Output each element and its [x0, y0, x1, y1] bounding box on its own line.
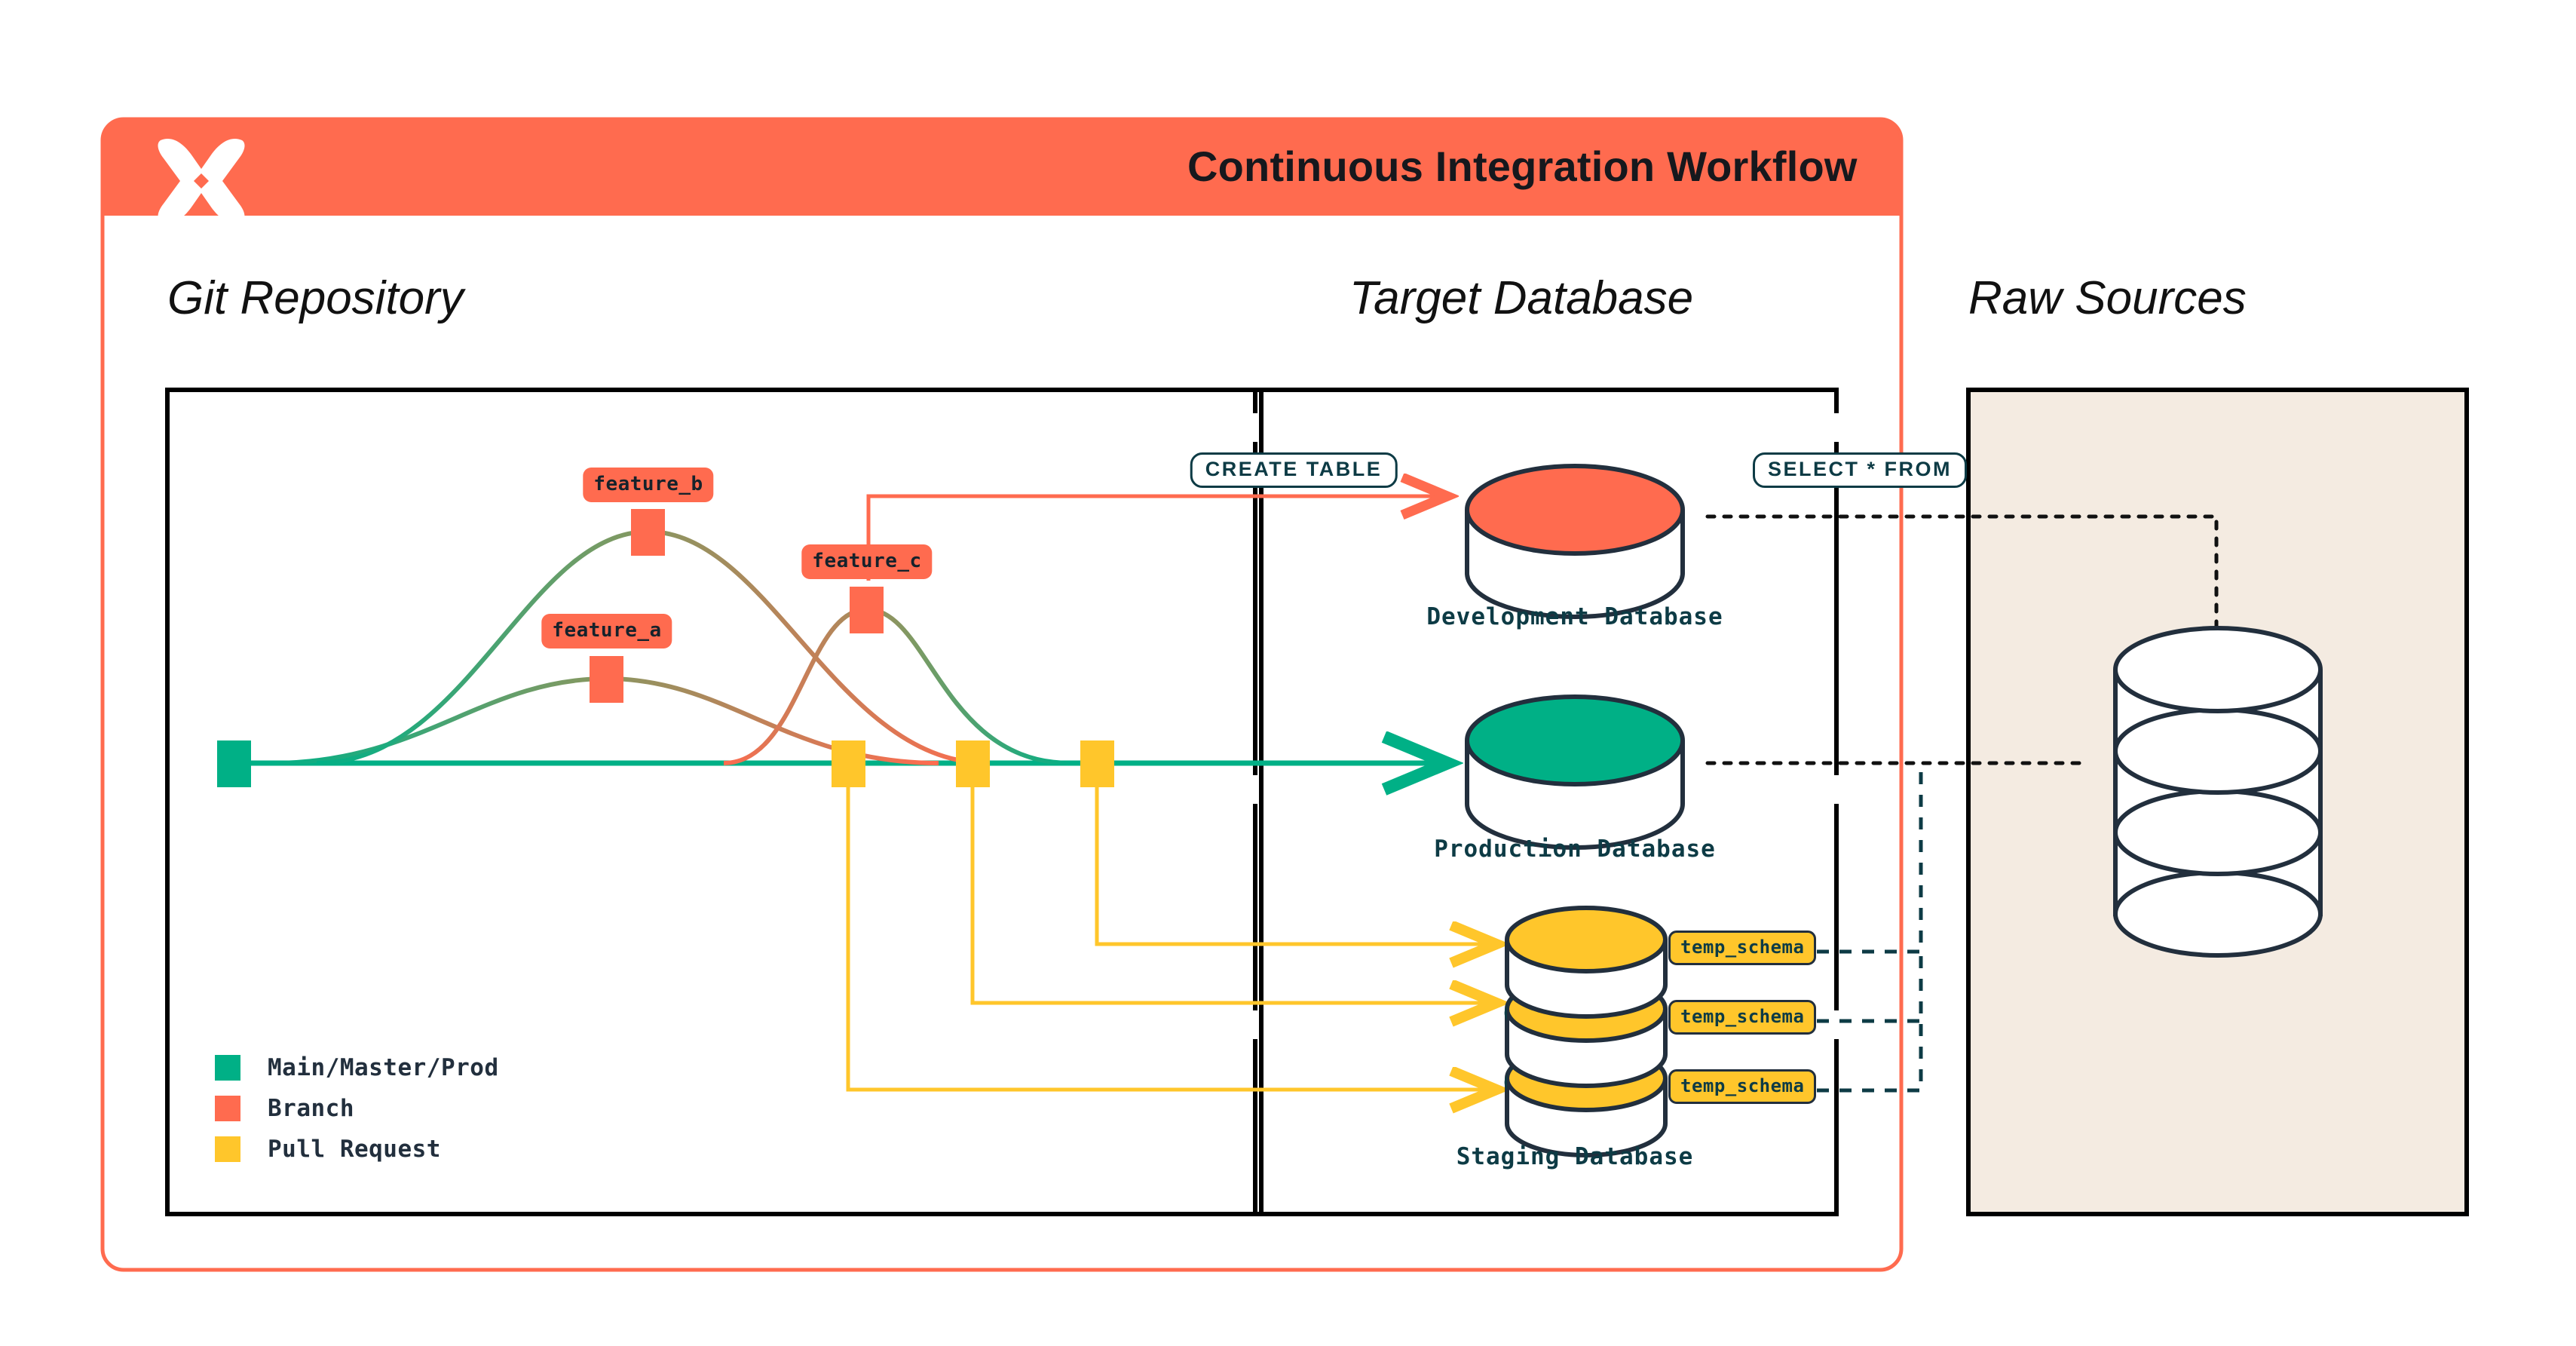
- production-database-cylinder: [1467, 697, 1683, 848]
- db-label-staging: Staging Database: [1456, 1143, 1694, 1170]
- create-table-arrow: [868, 496, 1447, 581]
- legend-label-main: Main/Master/Prod: [268, 1054, 499, 1081]
- section-title-target: Target Database: [1349, 271, 1693, 325]
- branch-chip-feature-a[interactable]: feature_a: [541, 614, 672, 648]
- commit-node-feature-b: [631, 509, 665, 556]
- pull-request-node-2: [956, 740, 990, 787]
- pr-to-staging-arrow-2: [973, 787, 1496, 1003]
- commit-node-feature-c: [850, 587, 884, 633]
- pull-request-node-1: [832, 740, 865, 787]
- legend-item-branch: Branch: [215, 1095, 354, 1122]
- legend-item-pull-request: Pull Request: [215, 1136, 441, 1163]
- pull-request-node-3: [1080, 740, 1114, 787]
- db-label-development: Development Database: [1426, 603, 1723, 630]
- schema-chip-temp-3[interactable]: temp_schema: [1668, 1069, 1816, 1104]
- raw-sources-cylinder: [2115, 628, 2320, 955]
- pr-to-staging-arrow-1: [1097, 787, 1496, 944]
- legend-label-branch: Branch: [268, 1095, 354, 1122]
- pr-to-staging-arrow-3: [848, 787, 1496, 1090]
- commit-node-feature-a: [590, 656, 623, 703]
- sql-chip-select-from[interactable]: SELECT * FROM: [1753, 452, 1967, 488]
- diagram-canvas: Continuous Integration Workflow Git Repo…: [0, 0, 2576, 1346]
- window-title: Continuous Integration Workflow: [1187, 142, 1858, 191]
- sql-chip-create-table[interactable]: CREATE TABLE: [1190, 452, 1398, 488]
- legend-swatch-pull-request: [215, 1136, 240, 1162]
- section-title-git: Git Repository: [167, 271, 464, 325]
- development-database-cylinder: [1467, 466, 1683, 617]
- commit-node-root: [217, 740, 251, 787]
- staging-database-cylinder-stack: [1505, 908, 1665, 1155]
- branch-chip-feature-b[interactable]: feature_b: [583, 468, 713, 502]
- legend-swatch-main: [215, 1055, 240, 1081]
- legend-item-main: Main/Master/Prod: [215, 1054, 499, 1081]
- legend-label-pull-request: Pull Request: [268, 1136, 441, 1163]
- legend-swatch-branch: [215, 1096, 240, 1121]
- branch-chip-feature-c[interactable]: feature_c: [801, 544, 932, 579]
- schema-chip-temp-2[interactable]: temp_schema: [1668, 1000, 1816, 1035]
- schema-chip-temp-1[interactable]: temp_schema: [1668, 931, 1816, 965]
- section-title-raw: Raw Sources: [1968, 271, 2247, 325]
- db-label-production: Production Database: [1434, 836, 1716, 863]
- temp-schema-dotted-1: [1817, 763, 1921, 952]
- feature-c-curve: [724, 609, 1071, 763]
